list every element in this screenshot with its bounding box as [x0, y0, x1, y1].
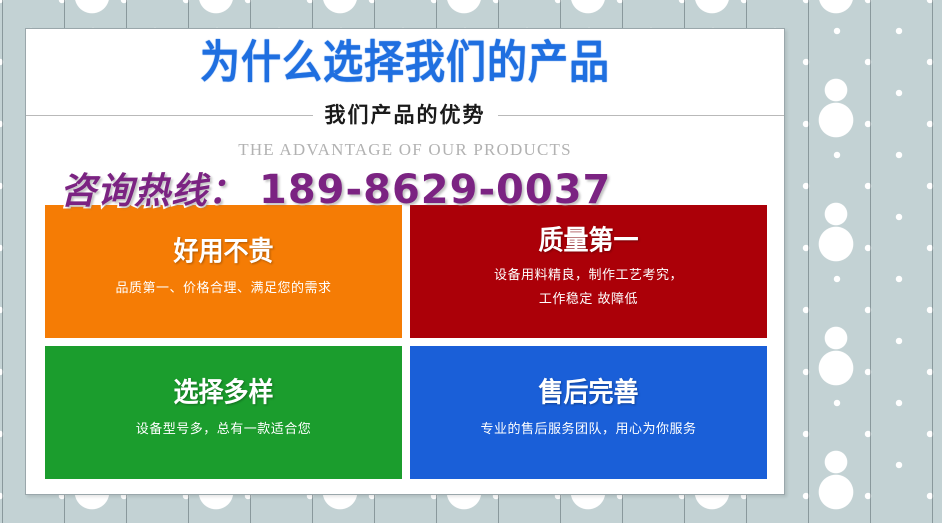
feature-description: 设备用料精良，制作工艺考究， 工作稳定 故障低 — [494, 264, 683, 312]
subtitle-row: 我们产品的优势 — [26, 101, 784, 131]
feature-description: 设备型号多，总有一款适合您 — [136, 418, 312, 442]
feature-card-variety[interactable]: 选择多样 设备型号多，总有一款适合您 — [45, 346, 402, 479]
subtitle: 我们产品的优势 — [313, 101, 498, 129]
feature-title: 售后完善 — [538, 376, 638, 408]
feature-description: 品质第一、价格合理、满足您的需求 — [115, 277, 331, 301]
heading-block: 为什么选择我们的产品 我们产品的优势 THE ADVANTAGE OF OUR … — [26, 29, 784, 161]
feature-grid: 好用不贵 品质第一、价格合理、满足您的需求 质量第一 设备用料精良，制作工艺考究… — [45, 205, 767, 479]
feature-card-quality-first[interactable]: 质量第一 设备用料精良，制作工艺考究， 工作稳定 故障低 — [410, 205, 767, 338]
feature-title: 好用不贵 — [173, 235, 273, 267]
feature-description-line: 工作稳定 故障低 — [494, 288, 683, 312]
page-title: 为什么选择我们的产品 — [26, 35, 784, 91]
feature-card-after-sales[interactable]: 售后完善 专业的售后服务团队，用心为你服务 — [410, 346, 767, 479]
feature-description-line: 设备用料精良，制作工艺考究， — [494, 264, 683, 288]
promo-card: 为什么选择我们的产品 我们产品的优势 THE ADVANTAGE OF OUR … — [25, 28, 785, 495]
feature-description-line: 设备型号多，总有一款适合您 — [136, 418, 312, 442]
feature-description: 专业的售后服务团队，用心为你服务 — [480, 418, 696, 442]
feature-title: 选择多样 — [173, 376, 273, 408]
english-subtitle: THE ADVANTAGE OF OUR PRODUCTS — [26, 139, 784, 161]
feature-card-good-value[interactable]: 好用不贵 品质第一、价格合理、满足您的需求 — [45, 205, 402, 338]
feature-description-line: 品质第一、价格合理、满足您的需求 — [115, 277, 331, 301]
feature-description-line: 专业的售后服务团队，用心为你服务 — [480, 418, 696, 442]
feature-title: 质量第一 — [538, 224, 638, 256]
